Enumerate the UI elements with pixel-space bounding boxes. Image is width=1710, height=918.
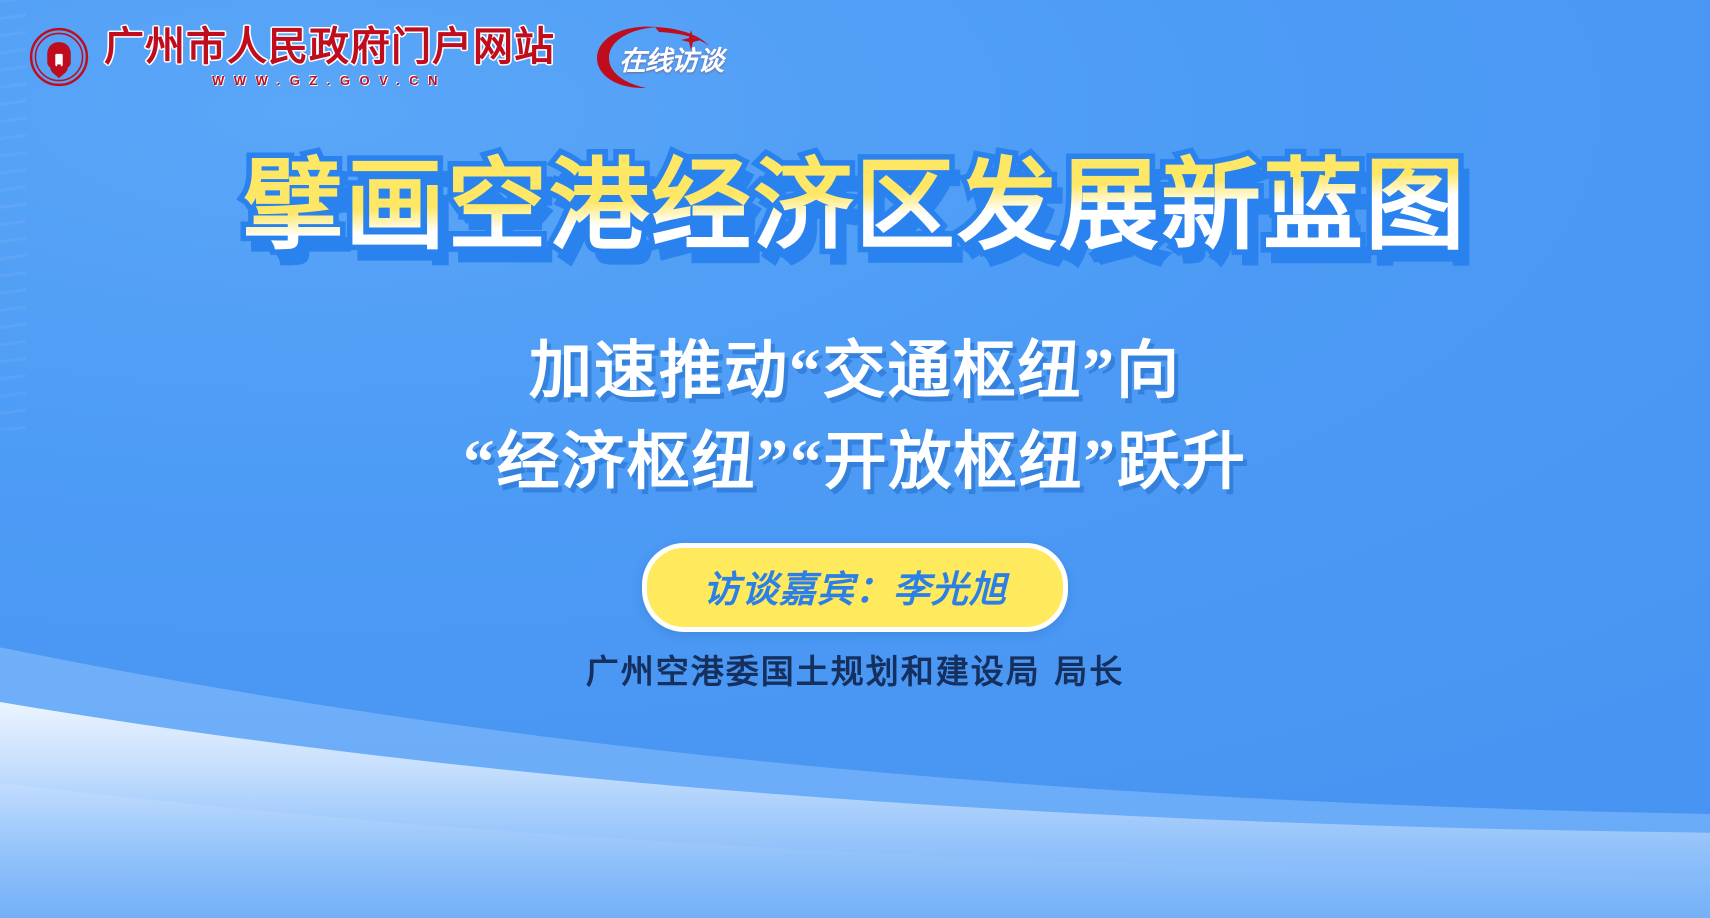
- guest-badge-label: 访谈嘉宾：李光旭: [703, 568, 1007, 611]
- subtitle-line-1: 加速推动“交通枢纽”向: [0, 326, 1710, 417]
- wave-pale-lower: [0, 678, 1710, 918]
- guangzhou-kapok-seal-icon: [28, 26, 90, 88]
- main-title: 擘画空港经济区发展新蓝图 擘画空港经济区发展新蓝图 擘画空港经济区发展新蓝图: [0, 152, 1710, 260]
- gov-site-title: 广州市人民政府门户网站: [104, 27, 555, 67]
- guest-badge: 访谈嘉宾：李光旭: [642, 543, 1068, 632]
- site-header: 广州市人民政府门户网站 WWW.GZ.GOV.CN 在线访谈: [28, 24, 719, 90]
- guest-affiliation: 广州空港委国土规划和建设局 局长: [0, 645, 1710, 693]
- online-interview-label: 在线访谈: [619, 39, 723, 78]
- gov-brand[interactable]: 广州市人民政府门户网站 WWW.GZ.GOV.CN: [28, 26, 555, 88]
- subtitle-line-2: “经济枢纽”“开放枢纽”跃升: [0, 417, 1710, 508]
- gov-brand-text: 广州市人民政府门户网站 WWW.GZ.GOV.CN: [104, 27, 555, 87]
- online-interview-logo[interactable]: 在线访谈: [589, 24, 719, 90]
- gov-site-url: WWW.GZ.GOV.CN: [104, 74, 555, 87]
- main-title-text: 擘画空港经济区发展新蓝图: [243, 147, 1467, 264]
- interview-poster: 广州市人民政府门户网站 WWW.GZ.GOV.CN 在线访谈 擘画空港经济区发展…: [0, 0, 1710, 918]
- subtitle: 加速推动“交通枢纽”向 “经济枢纽”“开放枢纽”跃升: [0, 326, 1710, 509]
